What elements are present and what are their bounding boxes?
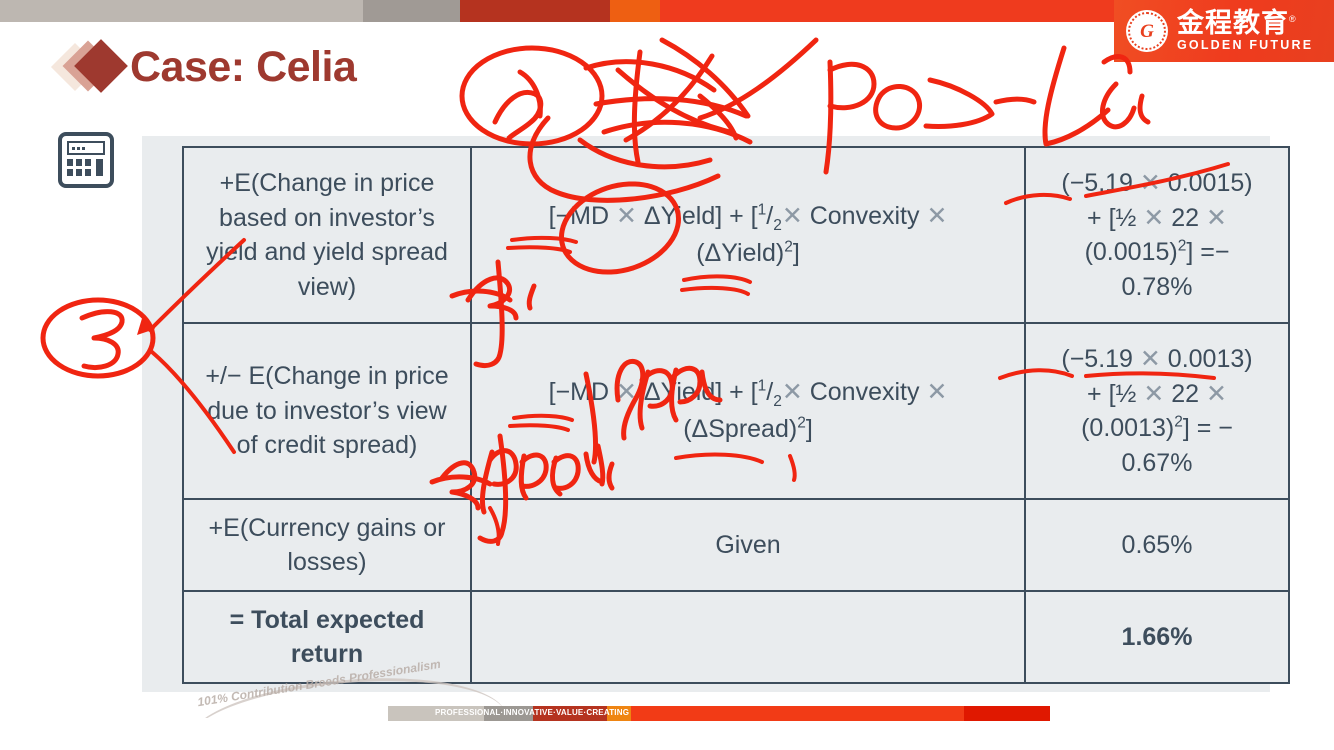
- calculator-key: [67, 159, 73, 166]
- calculator-key: [67, 169, 73, 176]
- footer-tagline: PROFESSIONAL·INNOVATIVE·VALUE·CREATING: [435, 708, 629, 717]
- value-text: (−5.19: [1061, 345, 1140, 373]
- footer-segment-5: [631, 706, 964, 721]
- value-text: (0.0015): [1085, 238, 1178, 266]
- formula-text: (ΔYield): [696, 239, 784, 267]
- diamond-bullet-icon: [56, 36, 122, 98]
- formula-text: ΔYield] + [: [637, 202, 758, 230]
- multiply-icon: ✕: [616, 378, 637, 406]
- topbar-segment-2: [363, 0, 460, 22]
- value-exponent: 2: [1174, 414, 1183, 431]
- cell-formula: Given: [471, 499, 1025, 591]
- value-text: (0.0013): [1081, 414, 1174, 442]
- value-text: 0.0013): [1161, 345, 1253, 373]
- cell-description: +E(Currency gains or losses): [183, 499, 471, 591]
- formula-text: ]: [793, 239, 800, 267]
- calculator-key: [76, 169, 82, 176]
- multiply-icon: ✕: [1206, 204, 1227, 232]
- value-text: 22: [1164, 380, 1206, 408]
- calculator-keypad: [67, 159, 105, 176]
- multiply-icon: ✕: [1143, 380, 1164, 408]
- display-dot: [77, 147, 80, 150]
- cell-formula: [−MD ✕ ΔYield] + [1/2✕ Convexity ✕ (ΔYie…: [471, 147, 1025, 323]
- formula-text: (ΔSpread): [683, 415, 797, 443]
- multiply-icon: ✕: [616, 202, 637, 230]
- cell-description: +E(Change in price based on investor’s y…: [183, 147, 471, 323]
- cell-value: 0.65%: [1025, 499, 1289, 591]
- calculator-key: [85, 169, 91, 176]
- topbar-segment-1: [0, 0, 363, 22]
- fraction-denominator: 2: [773, 393, 782, 410]
- value-text: ] = −: [1183, 414, 1233, 442]
- formula-exponent: 2: [784, 239, 793, 256]
- topbar-segment-3: [460, 0, 610, 22]
- table-row: = Total expected return 1.66%: [183, 591, 1289, 683]
- brand-name-cn: 金程教育®: [1177, 10, 1297, 38]
- calculator-display: [67, 141, 105, 155]
- value-text: 0.0015): [1161, 169, 1253, 197]
- calculator-key: [76, 159, 82, 166]
- display-dot: [82, 147, 85, 150]
- multiply-icon: ✕: [782, 378, 803, 406]
- table-row: +E(Currency gains or losses) Given 0.65%: [183, 499, 1289, 591]
- calculator-icon: [58, 132, 114, 188]
- seal-monogram: G: [1140, 22, 1154, 41]
- multiply-icon: ✕: [1140, 169, 1161, 197]
- multiply-icon: ✕: [1140, 345, 1161, 373]
- cell-formula: [−MD ✕ ΔYield] + [1/2✕ Convexity ✕ (ΔSpr…: [471, 323, 1025, 499]
- cell-description: +/− E(Change in price due to investor’s …: [183, 323, 471, 499]
- cell-value: (−5.19 ✕ 0.0013) + [½ ✕ 22 ✕ (0.0013)2] …: [1025, 323, 1289, 499]
- formula-text: [−MD: [549, 378, 616, 406]
- page-title: Case: Celia: [130, 43, 356, 92]
- formula-text: [−MD: [549, 202, 616, 230]
- formula-text: Convexity: [803, 202, 927, 230]
- value-text: 0.67%: [1122, 449, 1193, 477]
- value-text: (−5.19: [1061, 169, 1140, 197]
- ink-circled-scribble: [462, 48, 602, 144]
- formula-text: ]: [806, 415, 813, 443]
- value-text: + [½: [1087, 380, 1143, 408]
- footer-segment-6: [964, 706, 1050, 721]
- value-text: 22: [1164, 204, 1206, 232]
- fraction-denominator: 2: [773, 217, 782, 234]
- brand-name-cn-text: 金程教育: [1177, 8, 1289, 38]
- cell-value: (−5.19 ✕ 0.0015) + [½ ✕ 22 ✕ (0.0015)2] …: [1025, 147, 1289, 323]
- brand-name-en: GOLDEN FUTURE: [1177, 39, 1313, 52]
- slide-header: Case: Celia: [56, 36, 356, 98]
- formula-text: Convexity: [803, 378, 927, 406]
- value-text: 0.78%: [1122, 273, 1193, 301]
- multiply-icon: ✕: [1143, 204, 1164, 232]
- fraction-numerator: 1: [758, 378, 767, 395]
- cell-value: 1.66%: [1025, 591, 1289, 683]
- multiply-icon: ✕: [1206, 380, 1227, 408]
- display-dot: [72, 147, 75, 150]
- multiply-icon: ✕: [782, 202, 803, 230]
- calculator-key: [85, 159, 91, 166]
- value-text: + [½: [1087, 204, 1143, 232]
- table-row: +/− E(Change in price due to investor’s …: [183, 323, 1289, 499]
- multiply-icon: ✕: [926, 202, 947, 230]
- brand-logo: G 金程教育® GOLDEN FUTURE: [1114, 0, 1334, 62]
- multiply-icon: ✕: [926, 378, 947, 406]
- value-text: ] =−: [1186, 238, 1229, 266]
- table-row: +E(Change in price based on investor’s y…: [183, 147, 1289, 323]
- fraction-numerator: 1: [758, 202, 767, 219]
- registered-mark: ®: [1289, 14, 1297, 24]
- expected-return-table: +E(Change in price based on investor’s y…: [182, 146, 1290, 684]
- formula-exponent: 2: [797, 415, 806, 432]
- calculator-equals-key: [96, 159, 103, 176]
- seal-icon: G: [1126, 10, 1168, 52]
- cell-formula: [471, 591, 1025, 683]
- topbar-segment-4: [610, 0, 660, 22]
- formula-text: ΔYield] + [: [637, 378, 758, 406]
- brand-text: 金程教育® GOLDEN FUTURE: [1177, 10, 1313, 51]
- calculator-key-grid: [67, 159, 91, 176]
